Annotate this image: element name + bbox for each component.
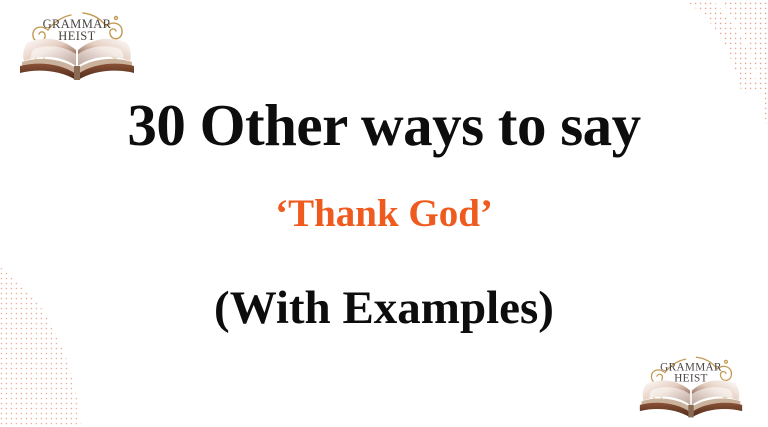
- open-book-icon: [640, 380, 742, 417]
- qualifier-subtitle: (With Examples): [0, 233, 768, 332]
- grammar-heist-logo-top-left[interactable]: GRAMMAR HEIST: [12, 6, 142, 84]
- subject-phrase: ‘Thank God’: [0, 155, 768, 233]
- logo-text-line2: HEIST: [674, 373, 708, 385]
- headline-title: 30 Other ways to say: [0, 96, 768, 155]
- grammar-heist-logo-bottom-right[interactable]: GRAMMAR HEIST: [632, 351, 750, 421]
- poster-text-block: 30 Other ways to say ‘Thank God’ (With E…: [0, 96, 768, 332]
- poster-canvas: GRAMMAR HEIST: [0, 0, 768, 427]
- logo-text-line2: HEIST: [58, 29, 95, 43]
- open-book-icon: [20, 39, 134, 80]
